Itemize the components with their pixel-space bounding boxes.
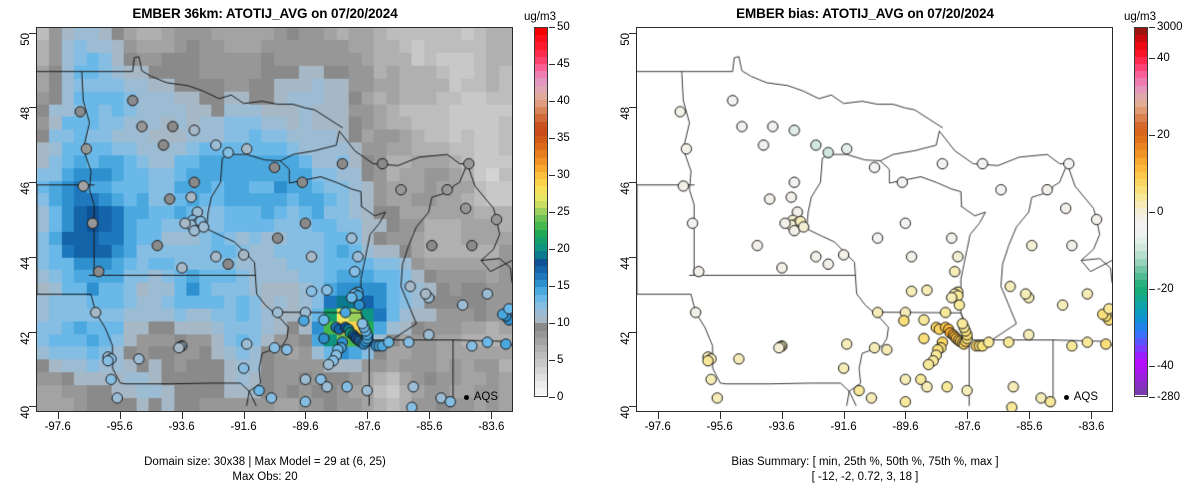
model-y-axis: 404244464850 (0, 27, 36, 412)
colorbar-segment (1135, 237, 1147, 244)
y-tick-label: 44 (20, 257, 32, 270)
colorbar-segment (535, 381, 547, 388)
colorbar-segment (1135, 388, 1147, 395)
colorbar-segment (535, 143, 547, 150)
colorbar-segment (1135, 273, 1147, 280)
colorbar-segment (1135, 345, 1147, 352)
colorbar-segment (535, 42, 547, 49)
colorbar-tick-label: 3000 (1157, 21, 1183, 33)
bias-colorbar-gradient (1134, 27, 1148, 397)
colorbar-segment (535, 93, 547, 100)
colorbar-segment (1135, 266, 1147, 273)
y-tick-label: 50 (620, 33, 632, 46)
x-tick-label: -87.6 (354, 421, 380, 433)
colorbar-segment (1135, 230, 1147, 237)
colorbar-segment (535, 158, 547, 165)
colorbar-tick (1149, 135, 1155, 136)
model-colorbar-gradient (534, 27, 548, 397)
colorbar-segment (535, 64, 547, 71)
colorbar-segment (1135, 150, 1147, 157)
colorbar-segment (535, 71, 547, 78)
colorbar-segment (1135, 309, 1147, 316)
colorbar-segment (535, 100, 547, 107)
colorbar-tick-label: 35 (557, 132, 570, 144)
colorbar-tick-label: 50 (557, 21, 570, 33)
colorbar-segment (535, 359, 547, 366)
x-tick-label: -89.6 (292, 421, 318, 433)
x-tick (182, 412, 183, 419)
y-tick-label: 44 (620, 257, 632, 270)
colorbar-segment (1135, 374, 1147, 381)
model-caption-line1: Domain size: 30x38 | Max Model = 29 at (… (0, 455, 530, 470)
bias-caption-line1: Bias Summary: [ min, 25th %, 50th %, 75t… (600, 455, 1130, 470)
colorbar-tick (549, 175, 555, 176)
colorbar-tick (549, 212, 555, 213)
colorbar-segment (1135, 136, 1147, 143)
colorbar-segment (535, 295, 547, 302)
x-tick (782, 412, 783, 419)
colorbar-segment (535, 352, 547, 359)
x-tick (305, 412, 306, 419)
colorbar-tick-label: 45 (557, 58, 570, 70)
x-tick (720, 412, 721, 419)
colorbar-tick-label: 25 (557, 206, 570, 218)
colorbar-segment (535, 244, 547, 251)
colorbar-tick (549, 360, 555, 361)
colorbar-segment (535, 345, 547, 352)
colorbar-segment (1135, 280, 1147, 287)
colorbar-segment (1135, 251, 1147, 258)
colorbar-segment (1135, 201, 1147, 208)
colorbar-segment (535, 28, 547, 35)
colorbar-segment (535, 374, 547, 381)
y-tick-label: 40 (20, 406, 32, 419)
model-caption: Domain size: 30x38 | Max Model = 29 at (… (0, 455, 530, 485)
panel-bias: EMBER bias: ATOTIJ_AVG on 07/20/2024 AQS… (600, 0, 1200, 502)
bias-caption-line2: [ -12, -2, 0.72, 3, 18 ] (600, 470, 1130, 485)
colorbar-segment (535, 179, 547, 186)
y-tick-label: 42 (620, 332, 632, 345)
colorbar-segment (1135, 179, 1147, 186)
aqs-legend-bias: AQS (1064, 391, 1098, 403)
colorbar-tick (1149, 289, 1155, 290)
panel-model: EMBER 36km: ATOTIJ_AVG on 07/20/2024 AQS… (0, 0, 600, 502)
colorbar-tick-label: 15 (557, 280, 570, 292)
colorbar-segment (1135, 107, 1147, 114)
x-tick-label: -85.6 (1016, 421, 1042, 433)
colorbar-segment (1135, 129, 1147, 136)
y-tick-label: 48 (620, 107, 632, 120)
model-x-axis: -97.6-95.6-93.6-91.6-89.6-87.6-85.6-83.6 (36, 412, 513, 442)
colorbar-segment (535, 230, 547, 237)
bias-colorbar-units: ug/m3 (1124, 11, 1156, 23)
colorbar-segment (1135, 295, 1147, 302)
bias-caption: Bias Summary: [ min, 25th %, 50th %, 75t… (600, 455, 1130, 485)
x-tick (658, 412, 659, 419)
colorbar-tick (549, 138, 555, 139)
colorbar-tick-label: 5 (557, 354, 563, 366)
colorbar-segment (1135, 143, 1147, 150)
colorbar-segment (1135, 71, 1147, 78)
colorbar-segment (1135, 186, 1147, 193)
x-tick (844, 412, 845, 419)
colorbar-segment (1135, 287, 1147, 294)
colorbar-segment (1135, 367, 1147, 374)
colorbar-segment (1135, 165, 1147, 172)
colorbar-segment (535, 86, 547, 93)
colorbar-segment (535, 186, 547, 193)
y-tick-label: 42 (20, 332, 32, 345)
colorbar-tick (1149, 58, 1155, 59)
x-tick-label: -91.6 (230, 421, 256, 433)
aqs-bias-points[interactable] (637, 28, 1112, 411)
colorbar-segment (1135, 222, 1147, 229)
aqs-legend-label: AQS (1074, 391, 1098, 403)
colorbar-segment (1135, 244, 1147, 251)
colorbar-tick-label: -40 (1157, 360, 1174, 372)
y-tick-label: 50 (20, 33, 32, 46)
bias-y-axis: 404244464850 (600, 27, 636, 412)
colorbar-tick (549, 64, 555, 65)
model-colorbar-units: ug/m3 (524, 11, 556, 23)
colorbar-segment (535, 50, 547, 57)
y-tick-label: 40 (620, 406, 632, 419)
colorbar-segment (535, 251, 547, 258)
x-tick-label: -87.6 (954, 421, 980, 433)
colorbar-segment (1135, 352, 1147, 359)
panel-model-plot-area: AQS (36, 27, 513, 412)
colorbar-tick (1149, 27, 1155, 28)
colorbar-tick (1149, 212, 1155, 213)
colorbar-segment (1135, 215, 1147, 222)
colorbar-segment (1135, 93, 1147, 100)
colorbar-tick-label: -280 (1157, 391, 1180, 403)
figure-container: EMBER 36km: ATOTIJ_AVG on 07/20/2024 AQS… (0, 0, 1200, 502)
x-tick-label: -93.6 (768, 421, 794, 433)
colorbar-segment (535, 78, 547, 85)
colorbar-segment (535, 136, 547, 143)
colorbar-segment (535, 331, 547, 338)
colorbar-segment (1135, 28, 1147, 35)
colorbar-segment (535, 388, 547, 395)
colorbar-segment (1135, 172, 1147, 179)
x-tick (367, 412, 368, 419)
colorbar-segment (1135, 50, 1147, 57)
colorbar-segment (535, 129, 547, 136)
x-tick (1029, 412, 1030, 419)
colorbar-segment (535, 172, 547, 179)
colorbar-segment (535, 316, 547, 323)
colorbar-segment (535, 338, 547, 345)
colorbar-segment (535, 194, 547, 201)
x-tick-label: -97.6 (645, 421, 671, 433)
colorbar-segment (1135, 316, 1147, 323)
colorbar-segment (1135, 114, 1147, 121)
colorbar-tick-label: 0 (557, 391, 563, 403)
colorbar-segment (535, 302, 547, 309)
colorbar-segment (535, 367, 547, 374)
colorbar-segment (535, 287, 547, 294)
colorbar-segment (1135, 323, 1147, 330)
colorbar-segment (535, 122, 547, 129)
colorbar-segment (1135, 259, 1147, 266)
colorbar-tick-label: 20 (557, 243, 570, 255)
colorbar-tick-label: 40 (1157, 52, 1170, 64)
colorbar-segment (535, 57, 547, 64)
y-tick-label: 46 (20, 182, 32, 195)
colorbar-segment (1135, 302, 1147, 309)
colorbar-tick (549, 397, 555, 398)
colorbar-segment (1135, 86, 1147, 93)
y-tick-label: 46 (620, 182, 632, 195)
x-tick-label: -97.6 (45, 421, 71, 433)
colorbar-segment (535, 165, 547, 172)
x-tick-label: -91.6 (830, 421, 856, 433)
colorbar-segment (1135, 338, 1147, 345)
colorbar-tick-label: 10 (557, 317, 570, 329)
colorbar-segment (535, 237, 547, 244)
colorbar-tick (549, 249, 555, 250)
x-tick-label: -95.6 (707, 421, 733, 433)
colorbar-tick (549, 286, 555, 287)
aqs-dot-icon (464, 395, 469, 400)
panel-model-title: EMBER 36km: ATOTIJ_AVG on 07/20/2024 (0, 6, 530, 21)
colorbar-tick-label: -20 (1157, 283, 1174, 295)
colorbar-segment (535, 323, 547, 330)
colorbar-tick (549, 27, 555, 28)
colorbar-segment (1135, 194, 1147, 201)
x-tick (429, 412, 430, 419)
colorbar-tick (1149, 366, 1155, 367)
colorbar-segment (535, 266, 547, 273)
x-tick-label: -83.6 (478, 421, 504, 433)
colorbar-segment (1135, 57, 1147, 64)
colorbar-segment (535, 259, 547, 266)
panel-bias-title: EMBER bias: ATOTIJ_AVG on 07/20/2024 (600, 6, 1130, 21)
colorbar-segment (535, 309, 547, 316)
panel-bias-plot-area: AQS (636, 27, 1113, 412)
x-tick-label: -93.6 (168, 421, 194, 433)
colorbar-segment (1135, 359, 1147, 366)
x-tick-label: -85.6 (416, 421, 442, 433)
x-tick-label: -95.6 (107, 421, 133, 433)
x-tick (905, 412, 906, 419)
colorbar-tick (549, 101, 555, 102)
x-tick (491, 412, 492, 419)
colorbar-segment (1135, 35, 1147, 42)
colorbar-tick-label: 40 (557, 95, 570, 107)
bias-x-axis: -97.6-95.6-93.6-91.6-89.6-87.6-85.6-83.6 (636, 412, 1113, 442)
x-tick (244, 412, 245, 419)
x-tick (58, 412, 59, 419)
x-tick-label: -83.6 (1078, 421, 1104, 433)
x-tick (967, 412, 968, 419)
colorbar-segment (535, 107, 547, 114)
colorbar-segment (1135, 78, 1147, 85)
aqs-legend-model: AQS (464, 391, 498, 403)
x-tick-label: -89.6 (892, 421, 918, 433)
aqs-dot-icon (1064, 395, 1069, 400)
colorbar-segment (535, 208, 547, 215)
colorbar-segment (1135, 64, 1147, 71)
colorbar-segment (1135, 100, 1147, 107)
colorbar-segment (535, 114, 547, 121)
model-caption-line2: Max Obs: 20 (0, 470, 530, 485)
colorbar-segment (535, 273, 547, 280)
colorbar-tick-label: 0 (1157, 206, 1163, 218)
colorbar-segment (1135, 122, 1147, 129)
colorbar-segment (535, 215, 547, 222)
colorbar-segment (535, 35, 547, 42)
aqs-observation-points[interactable] (37, 28, 512, 411)
aqs-legend-label: AQS (474, 391, 498, 403)
y-tick-label: 48 (20, 107, 32, 120)
colorbar-segment (535, 201, 547, 208)
colorbar-tick (549, 323, 555, 324)
colorbar-segment (1135, 208, 1147, 215)
colorbar-segment (535, 280, 547, 287)
colorbar-tick (1149, 397, 1155, 398)
colorbar-segment (535, 222, 547, 229)
colorbar-tick-label: 30 (557, 169, 570, 181)
colorbar-segment (1135, 158, 1147, 165)
colorbar-segment (1135, 42, 1147, 49)
colorbar-tick-label: 20 (1157, 129, 1170, 141)
colorbar-segment (535, 150, 547, 157)
x-tick (120, 412, 121, 419)
colorbar-segment (1135, 381, 1147, 388)
x-tick (1091, 412, 1092, 419)
colorbar-segment (1135, 331, 1147, 338)
